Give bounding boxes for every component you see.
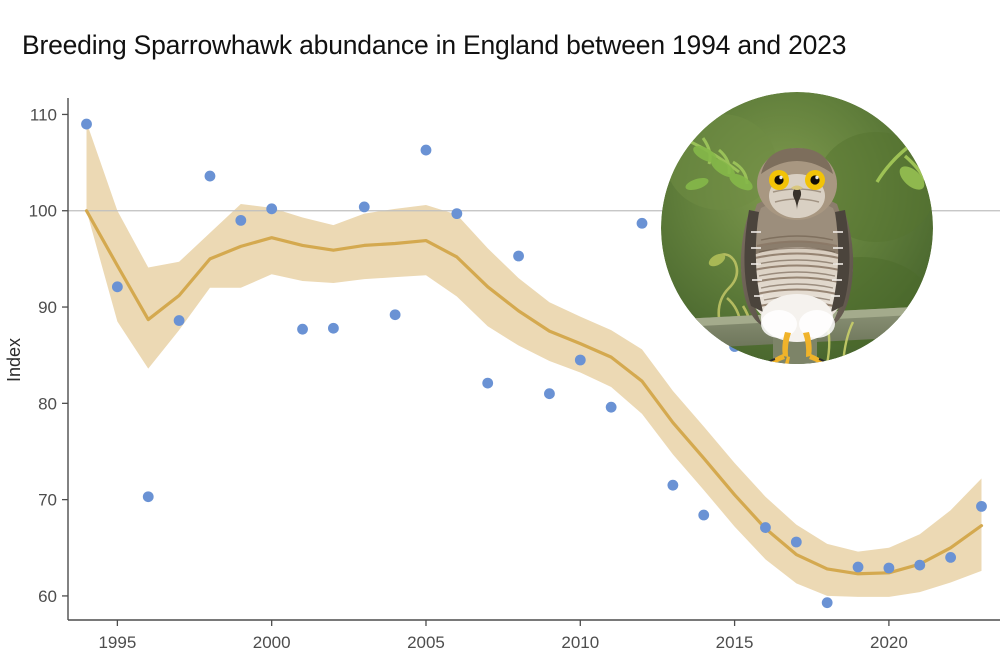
data-point [390,309,401,320]
data-point [297,324,308,335]
x-tick-label: 2005 [407,633,445,652]
y-axis-title-text: Index [4,338,24,382]
y-tick-label: 110 [30,105,57,124]
data-point [421,145,432,156]
y-tick-label: 90 [38,298,57,317]
data-point [667,480,678,491]
data-point [513,251,524,262]
data-point [81,119,92,130]
data-point [853,562,864,573]
data-point [606,402,617,413]
data-point [791,537,802,548]
data-point [328,323,339,334]
data-point [822,597,833,608]
data-point [266,203,277,214]
data-point [235,215,246,226]
data-point [451,208,462,219]
data-point [884,563,895,574]
y-axis-ticks: 60708090100110 [29,105,68,605]
data-point [976,501,987,512]
data-point [760,522,771,533]
x-tick-label: 2015 [716,633,754,652]
x-tick-label: 2020 [870,633,908,652]
data-point [143,491,154,502]
data-point [698,510,709,521]
x-axis-ticks: 199520002005201020152020 [98,620,907,652]
data-point [945,552,956,563]
y-tick-label: 80 [38,394,57,413]
sparrowhawk-illustration [661,92,933,364]
data-point [174,315,185,326]
data-point [575,355,586,366]
data-point [359,201,370,212]
y-tick-label: 100 [29,202,57,221]
data-point [914,560,925,571]
x-tick-label: 2010 [561,633,599,652]
y-tick-label: 70 [38,491,57,510]
y-axis-title: Index [4,338,24,382]
data-point [544,388,555,399]
data-point [112,281,123,292]
sparrowhawk-photo [661,92,933,364]
chart-container: Breeding Sparrowhawk abundance in Englan… [0,0,1000,667]
x-tick-label: 1995 [98,633,136,652]
data-point [205,171,216,182]
data-point [482,378,493,389]
y-tick-label: 60 [38,587,57,606]
x-tick-label: 2000 [253,633,291,652]
data-point [637,218,648,229]
